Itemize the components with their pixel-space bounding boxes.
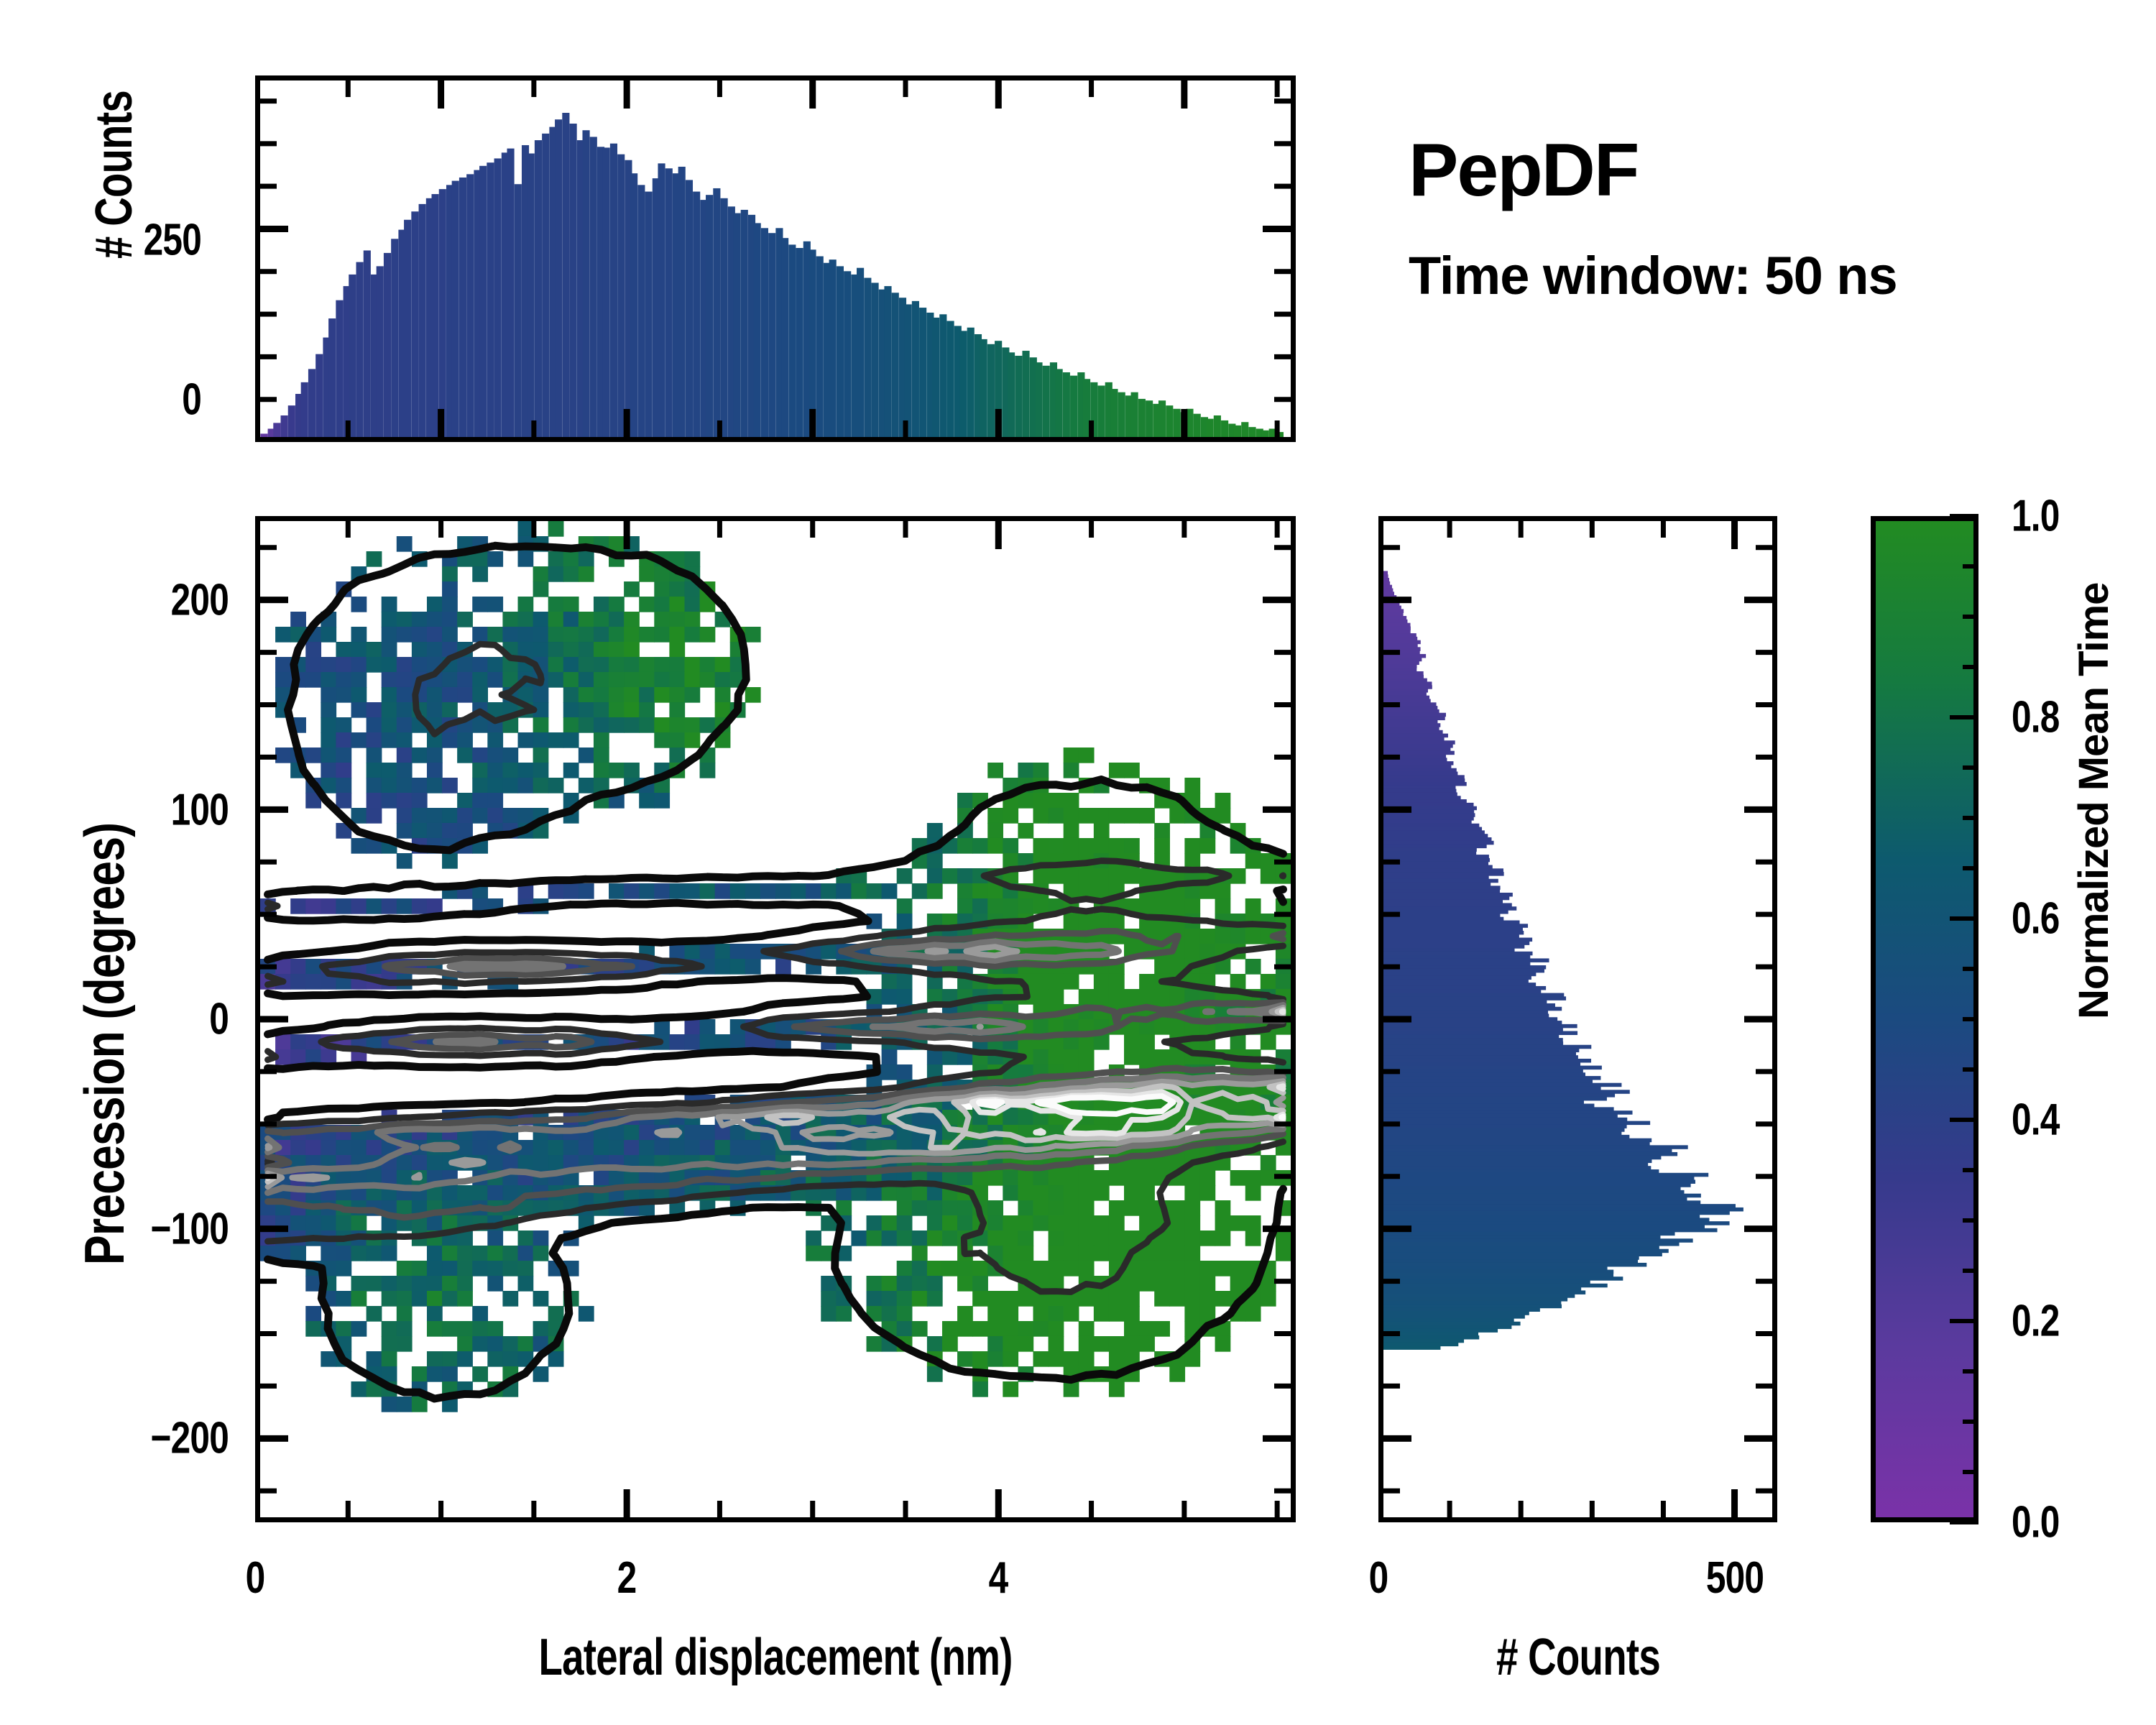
- heatmap-cell: [457, 687, 473, 703]
- heatmap-cell: [669, 687, 685, 703]
- right-panel-xlabel: # Counts: [1496, 1628, 1660, 1687]
- heatmap-cell: [1018, 1215, 1033, 1231]
- right-hist-bar: [1383, 927, 1523, 931]
- right-hist-bar: [1383, 1162, 1648, 1167]
- heatmap-cell: [397, 657, 413, 673]
- heatmap-cell: [972, 1381, 988, 1397]
- heatmap-cell: [684, 672, 700, 688]
- right-hist-bar: [1383, 952, 1533, 956]
- heatmap-cell: [579, 702, 594, 718]
- heatmap-cell: [1109, 1306, 1125, 1322]
- right-hist-bar: [1383, 885, 1501, 890]
- heatmap-cell: [382, 642, 397, 658]
- heatmap-cell: [609, 687, 625, 703]
- heatmap-cell: [290, 1246, 306, 1261]
- heatmap-cell: [472, 1336, 488, 1352]
- right-hist-bar: [1383, 938, 1532, 942]
- heatmap-cell: [639, 566, 655, 582]
- heatmap-cell: [1215, 929, 1231, 944]
- heatmap-cell: [275, 657, 291, 673]
- heatmap-cell: [457, 823, 473, 839]
- right-hist-bar: [1383, 1028, 1563, 1032]
- heatmap-cell: [594, 747, 609, 763]
- heatmap-cell: [745, 627, 761, 643]
- right-hist-bar: [1383, 1166, 1651, 1170]
- colorbar-minor-tick: [1963, 1369, 1978, 1374]
- heatmap-cell: [351, 597, 367, 612]
- heatmap-cell: [1215, 1336, 1231, 1352]
- heatmap-cell: [518, 1246, 534, 1261]
- heatmap-cell: [533, 1246, 549, 1261]
- right-hist-bar: [1383, 1003, 1555, 1008]
- colorbar-wrapper: 0.00.20.40.60.81.0: [1871, 516, 1978, 1522]
- heatmap-cell: [1261, 1291, 1276, 1307]
- right-hist-bar: [1383, 1276, 1623, 1281]
- right-hist-bar: [1383, 689, 1428, 693]
- right-hist-bar: [1383, 889, 1500, 893]
- title-block: PepDF Time window: 50 ns: [1409, 133, 1897, 306]
- heatmap-cell: [1094, 823, 1110, 839]
- heatmap-cell: [579, 717, 594, 733]
- heatmap-cell: [1215, 883, 1231, 899]
- heatmap-cell: [639, 702, 655, 718]
- right-hist-bar: [1383, 1263, 1646, 1267]
- heatmap-cell: [1003, 1381, 1018, 1397]
- heatmap-cell: [987, 838, 1003, 854]
- right-hist-bar: [1383, 903, 1512, 907]
- top-hist-bar: [995, 341, 1002, 437]
- heatmap-cell: [442, 597, 458, 612]
- heatmap-cell: [594, 702, 609, 718]
- right-hist-bar: [1383, 1100, 1584, 1105]
- heatmap-cell: [760, 883, 776, 899]
- colorbar-minor-tick: [1963, 866, 1978, 870]
- colorbar-minor-tick: [1963, 1067, 1978, 1072]
- top-hist-bar: [884, 286, 891, 437]
- top-hist-bar: [1131, 392, 1138, 437]
- heatmap-cell: [321, 1140, 336, 1156]
- heatmap-cell: [1276, 1246, 1291, 1261]
- heatmap-cell: [609, 883, 625, 899]
- heatmap-cell: [397, 853, 413, 869]
- heatmap-cell: [594, 612, 609, 627]
- right-hist-bar: [1383, 986, 1546, 990]
- heatmap-cell: [912, 1230, 928, 1246]
- heatmap-cell: [367, 747, 382, 763]
- heatmap-cell: [1049, 1170, 1064, 1186]
- right-hist-bar: [1383, 754, 1446, 758]
- right-hist-bar: [1383, 1169, 1659, 1174]
- right-hist-bar: [1383, 1152, 1677, 1156]
- heatmap-cell: [684, 732, 700, 748]
- heatmap-cell: [987, 1200, 1003, 1216]
- heatmap-cell: [1003, 1336, 1018, 1352]
- heatmap-cell: [669, 1140, 685, 1156]
- heatmap-cell: [639, 717, 655, 733]
- heatmap-cell: [275, 627, 291, 643]
- heatmap-cell: [1033, 1049, 1049, 1065]
- right-hist-bar: [1383, 640, 1421, 645]
- heatmap-cell: [730, 944, 746, 960]
- heatmap-cell: [1139, 1261, 1155, 1276]
- heatmap-cell: [397, 1397, 413, 1412]
- heatmap-cell: [457, 732, 473, 748]
- heatmap-cell: [1033, 1351, 1049, 1367]
- heatmap-cell: [1215, 1215, 1231, 1231]
- top-hist-bar: [1207, 419, 1214, 437]
- heatmap-cell: [927, 1230, 943, 1246]
- top-hist-bar: [987, 344, 995, 437]
- main-xtick-label-2: 2: [617, 1552, 637, 1604]
- right-hist-bar: [1383, 747, 1450, 752]
- top-hist-bar: [665, 168, 673, 437]
- heatmap-cell: [745, 687, 761, 703]
- right-hist-bar: [1383, 858, 1490, 862]
- heatmap-cell: [533, 642, 549, 658]
- heatmap-cell: [382, 612, 397, 627]
- heatmap-cell: [457, 1291, 473, 1307]
- heatmap-cell: [1033, 1170, 1049, 1186]
- heatmap-cell: [821, 1276, 837, 1292]
- heatmap-cell: [351, 732, 367, 748]
- right-hist-bar: [1383, 1135, 1629, 1139]
- heatmap-cell: [442, 627, 458, 643]
- top-hist-bar: [1146, 400, 1153, 437]
- heatmap-cell: [397, 536, 413, 552]
- top-hist-bar: [905, 304, 912, 437]
- heatmap-cell: [487, 1261, 503, 1276]
- top-hist-bar: [459, 178, 466, 437]
- heatmap-cell: [442, 1261, 458, 1276]
- heatmap-cell: [457, 1276, 473, 1292]
- heatmap-cell: [1094, 1230, 1110, 1246]
- top-hist-bar: [288, 405, 295, 437]
- colorbar-minor-tick: [1963, 1168, 1978, 1172]
- heatmap-cell: [351, 702, 367, 718]
- top-hist-bar: [384, 253, 391, 437]
- heatmap-cell: [684, 627, 700, 643]
- heatmap-cell: [609, 627, 625, 643]
- heatmap-cell: [533, 627, 549, 643]
- heatmap-cell: [1094, 1246, 1110, 1261]
- heatmap-cell: [1199, 838, 1215, 854]
- heatmap-cell: [609, 612, 625, 627]
- heatmap-cell: [624, 763, 640, 778]
- heatmap-cell: [1215, 1291, 1231, 1307]
- heatmap-cell: [1215, 1230, 1231, 1246]
- colorbar-major-tick: [1950, 715, 1978, 719]
- heatmap-cell: [336, 1246, 351, 1261]
- top-hist-bar: [706, 195, 713, 437]
- top-hist-bar: [466, 174, 474, 437]
- heatmap-cell: [1018, 793, 1033, 809]
- right-hist-bar: [1383, 789, 1456, 793]
- heatmap-cell: [684, 551, 700, 567]
- heatmap-cell: [351, 1291, 367, 1307]
- top-marginal-histogram-panel: [255, 75, 1296, 442]
- main-ytick-label-100: 100: [171, 785, 229, 836]
- heatmap-cell: [715, 959, 731, 975]
- heatmap-cell: [1079, 868, 1095, 884]
- heatmap-cell: [1276, 959, 1291, 975]
- right-hist-bar: [1383, 661, 1419, 666]
- right-marginal-histogram-panel: [1378, 516, 1777, 1522]
- heatmap-cell: [1064, 1230, 1079, 1246]
- heatmap-cell: [1199, 1230, 1215, 1246]
- heatmap-cell: [1049, 1351, 1064, 1367]
- heatmap-cell: [624, 536, 640, 552]
- right-hist-bar: [1383, 1131, 1621, 1136]
- top-hist-bar: [1043, 366, 1050, 437]
- right-hist-bar: [1383, 585, 1392, 589]
- heatmap-cell: [730, 1034, 746, 1050]
- heatmap-cell: [609, 1140, 625, 1156]
- heatmap-cell: [579, 747, 594, 763]
- heatmap-cell: [609, 702, 625, 718]
- right-hist-bar: [1383, 1110, 1633, 1115]
- heatmap-cell: [927, 823, 943, 839]
- right-hist-bar: [1383, 931, 1524, 935]
- heatmap-cell: [260, 1215, 276, 1231]
- heatmap-cell: [1033, 808, 1049, 824]
- top-hist-bar: [768, 233, 775, 437]
- heatmap-cell: [442, 702, 458, 718]
- heatmap-cell: [1139, 1049, 1155, 1065]
- heatmap-cell: [1049, 974, 1064, 990]
- heatmap-cell: [321, 717, 336, 733]
- right-hist-bar: [1383, 1080, 1593, 1084]
- heatmap-cell: [1109, 808, 1125, 824]
- heatmap-cell: [745, 944, 761, 960]
- heatmap-cell: [487, 1230, 503, 1246]
- heatmap-cell: [321, 687, 336, 703]
- heatmap-cell: [594, 717, 609, 733]
- heatmap-cell: [382, 717, 397, 733]
- heatmap-cell: [502, 747, 518, 763]
- heatmap-cell: [1169, 1246, 1185, 1261]
- heatmap-cell: [533, 612, 549, 627]
- heatmap-cell: [639, 627, 655, 643]
- heatmap-cell: [1230, 1261, 1246, 1276]
- heatmap-cell: [487, 1246, 503, 1261]
- heatmap-cell: [367, 642, 382, 658]
- heatmap-cell: [1018, 823, 1033, 839]
- heatmap-cell: [882, 1064, 898, 1080]
- top-hist-bar: [479, 166, 487, 437]
- right-hist-bar: [1383, 1215, 1700, 1219]
- right-hist-bar: [1383, 778, 1465, 783]
- right-hist-bar: [1383, 1000, 1547, 1004]
- right-hist-bar: [1383, 1218, 1709, 1222]
- heatmap-cell: [1033, 763, 1049, 778]
- heatmap-cell: [397, 747, 413, 763]
- right-hist-bar: [1383, 993, 1564, 998]
- colorbar-minor-tick: [1963, 967, 1978, 971]
- joint-heatmap-with-contours: [260, 521, 1291, 1517]
- heatmap-cell: [442, 1321, 458, 1337]
- top-hist-bar: [439, 189, 446, 437]
- heatmap-cell: [1199, 1306, 1215, 1322]
- heatmap-cell: [563, 672, 579, 688]
- heatmap-cell: [397, 1170, 413, 1186]
- heatmap-cell: [321, 747, 336, 763]
- heatmap-cell: [1064, 1170, 1079, 1186]
- colorbar-minor-tick: [1963, 564, 1978, 569]
- right-hist-bar: [1383, 1187, 1681, 1191]
- right-hist-bar: [1383, 958, 1549, 962]
- main-xtick-label-4: 4: [989, 1552, 1008, 1604]
- right-hist-bar: [1383, 592, 1394, 596]
- top-hist-bar: [946, 321, 954, 437]
- right-hist-bar: [1383, 775, 1465, 779]
- heatmap-cell: [1199, 1261, 1215, 1276]
- heatmap-cell: [669, 612, 685, 627]
- heatmap-cell: [472, 808, 488, 824]
- heatmap-cell: [821, 1291, 837, 1307]
- heatmap-cell: [1124, 1321, 1140, 1337]
- heatmap-cell: [427, 597, 443, 612]
- heatmap-cell: [1094, 1034, 1110, 1050]
- right-hist-bar: [1383, 979, 1529, 983]
- heatmap-cell: [275, 1034, 291, 1050]
- heatmap-cell: [1064, 1185, 1079, 1201]
- heatmap-cell: [987, 1291, 1003, 1307]
- heatmap-cell: [957, 1215, 973, 1231]
- right-hist-bar: [1383, 637, 1417, 641]
- right-xtick-label-0: 0: [1369, 1552, 1388, 1604]
- right-hist-bar: [1383, 1069, 1583, 1073]
- heatmap-cell: [290, 612, 306, 627]
- heatmap-cell: [427, 1246, 443, 1261]
- heatmap-cell: [1139, 1215, 1155, 1231]
- heatmap-cell: [351, 687, 367, 703]
- right-hist-bar: [1383, 1124, 1627, 1128]
- heatmap-cell: [609, 657, 625, 673]
- heatmap-cell: [1215, 898, 1231, 914]
- heatmap-cell: [1049, 838, 1064, 854]
- heatmap-cell: [654, 732, 670, 748]
- right-hist-bar: [1383, 1183, 1691, 1187]
- top-hist-bar: [610, 144, 617, 437]
- heatmap-cell: [1124, 1200, 1140, 1216]
- heatmap-cell: [972, 898, 988, 914]
- heatmap-cell: [927, 1215, 943, 1231]
- heatmap-cell: [700, 1019, 716, 1035]
- right-hist-bar: [1383, 1221, 1730, 1225]
- heatmap-cell: [579, 627, 594, 643]
- top-hist-bar: [741, 210, 748, 437]
- right-hist-bar: [1383, 900, 1503, 904]
- heatmap-cell: [442, 778, 458, 793]
- top-hist-bar: [857, 268, 864, 437]
- colorbar-minor-tick: [1963, 1470, 1978, 1474]
- top-hist-bar: [515, 184, 522, 437]
- right-hist-bar: [1383, 1273, 1613, 1277]
- heatmap-cell: [1124, 868, 1140, 884]
- heatmap-cell: [321, 732, 336, 748]
- right-hist-bar: [1383, 772, 1457, 776]
- top-hist-bar: [308, 369, 315, 437]
- heatmap-cell: [791, 883, 806, 899]
- heatmap-cell: [1109, 868, 1125, 884]
- heatmap-cell: [518, 627, 534, 643]
- heatmap-cell: [1109, 1381, 1125, 1397]
- heatmap-cell: [336, 1321, 351, 1337]
- heatmap-cell: [442, 732, 458, 748]
- heatmap-cell: [927, 1200, 943, 1216]
- heatmap-cell: [1018, 898, 1033, 914]
- top-hist-bar: [1083, 379, 1090, 437]
- heatmap-cell: [533, 1230, 549, 1246]
- heatmap-cell: [382, 763, 397, 778]
- right-hist-bar: [1383, 740, 1455, 745]
- heatmap-cell: [321, 1246, 336, 1261]
- heatmap-cell: [912, 1200, 928, 1216]
- heatmap-cell: [684, 1034, 700, 1050]
- heatmap-cell: [397, 778, 413, 793]
- top-hist-bar: [535, 140, 542, 437]
- heatmap-cell: [912, 1291, 928, 1307]
- top-hist-bar: [301, 382, 308, 437]
- heatmap-cell: [760, 1140, 776, 1156]
- heatmap-cell: [669, 883, 685, 899]
- heatmap-cell: [821, 944, 837, 960]
- heatmap-cell: [987, 1321, 1003, 1337]
- heatmap-cell: [533, 687, 549, 703]
- heatmap-cell: [533, 1291, 549, 1307]
- heatmap-cell: [502, 778, 518, 793]
- heatmap-cell: [927, 1366, 943, 1382]
- heatmap-cell: [579, 672, 594, 688]
- right-hist-bar: [1383, 719, 1437, 724]
- right-hist-bar: [1383, 1128, 1625, 1132]
- right-hist-bar: [1383, 962, 1530, 966]
- heatmap-cell: [487, 1321, 503, 1337]
- top-hist-bar: [336, 300, 343, 437]
- heatmap-cell: [427, 1291, 443, 1307]
- heatmap-cell: [700, 763, 716, 778]
- heatmap-cell: [427, 1276, 443, 1292]
- right-hist-bar: [1383, 965, 1546, 970]
- heatmap-cell: [579, 551, 594, 567]
- heatmap-cell: [1079, 1215, 1095, 1231]
- heatmap-cell: [1109, 1230, 1125, 1246]
- right-hist-bar: [1383, 1052, 1576, 1056]
- heatmap-cell: [472, 627, 488, 643]
- heatmap-cell: [382, 1291, 397, 1307]
- top-hist-bar: [1186, 409, 1193, 437]
- heatmap-cell: [487, 778, 503, 793]
- heatmap-cell: [1184, 1215, 1200, 1231]
- heatmap-cell: [351, 1215, 367, 1231]
- heatmap-cell: [639, 883, 655, 899]
- heatmap-cell: [533, 732, 549, 748]
- heatmap-cell: [502, 627, 518, 643]
- heatmap-cell: [654, 581, 670, 597]
- heatmap-cell: [412, 642, 428, 658]
- heatmap-cell: [397, 1276, 413, 1292]
- right-hist-bar: [1383, 841, 1494, 845]
- heatmap-cell: [897, 1215, 913, 1231]
- top-hist-bar: [864, 278, 871, 437]
- right-hist-bar: [1383, 1339, 1464, 1343]
- heatmap-cell: [684, 1019, 700, 1035]
- heatmap-cell: [397, 732, 413, 748]
- heatmap-cell: [548, 642, 564, 658]
- heatmap-cell: [305, 747, 321, 763]
- right-hist-bar: [1383, 671, 1424, 676]
- heatmap-cell: [987, 1215, 1003, 1231]
